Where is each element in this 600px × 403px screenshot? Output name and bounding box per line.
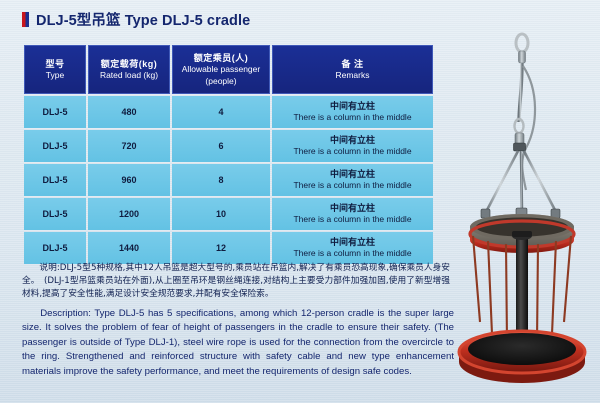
cell-rated-load: 1440: [88, 232, 170, 264]
cell-type: DLJ-5: [24, 198, 86, 230]
description-english: Description: Type DLJ-5 has 5 specificat…: [22, 307, 454, 379]
column-header-type-cn: 型号: [27, 58, 83, 70]
table-row: DLJ-5 1440 12 中间有立柱 There is a column in…: [24, 232, 433, 264]
cell-rated-load: 1200: [88, 198, 170, 230]
cell-remarks-en: There is a column in the middle: [274, 248, 431, 259]
cell-type: DLJ-5: [24, 130, 86, 162]
cell-passengers: 8: [172, 164, 270, 196]
cell-remarks-en: There is a column in the middle: [274, 180, 431, 191]
mid-shackle-icon: [514, 119, 526, 151]
column-header-rated-load-en: Rated load (kg): [91, 70, 167, 81]
cell-type: DLJ-5: [24, 164, 86, 196]
column-header-type: 型号 Type: [24, 45, 86, 94]
product-photo: [446, 22, 600, 400]
column-header-remarks: 备 注 Remarks: [272, 45, 433, 94]
title-marker-icon: [22, 12, 29, 27]
cell-rated-load: 960: [88, 164, 170, 196]
cell-rated-load: 480: [88, 96, 170, 128]
specification-table: 型号 Type 额定载荷(kg) Rated load (kg) 额定乘员(人)…: [22, 43, 435, 266]
column-header-remarks-cn: 备 注: [275, 58, 430, 70]
column-header-passengers-en: Allowable passenger (people): [175, 64, 267, 87]
page-title: DLJ-5型吊篮 Type DLJ-5 cradle: [22, 9, 250, 30]
table-header-row: 型号 Type 额定载荷(kg) Rated load (kg) 额定乘员(人)…: [24, 45, 433, 94]
table-row: DLJ-5 1200 10 中间有立柱 There is a column in…: [24, 198, 433, 230]
cell-passengers: 12: [172, 232, 270, 264]
cell-remarks-en: There is a column in the middle: [274, 214, 431, 225]
cell-remarks-cn: 中间有立柱: [274, 236, 431, 248]
cell-remarks: 中间有立柱 There is a column in the middle: [272, 232, 433, 264]
page-title-text: DLJ-5型吊篮 Type DLJ-5 cradle: [36, 9, 250, 30]
cell-type: DLJ-5: [24, 96, 86, 128]
table-row: DLJ-5 720 6 中间有立柱 There is a column in t…: [24, 130, 433, 162]
cell-remarks-cn: 中间有立柱: [274, 100, 431, 112]
cell-remarks-en: There is a column in the middle: [274, 112, 431, 123]
cell-remarks: 中间有立柱 There is a column in the middle: [272, 96, 433, 128]
cell-remarks-en: There is a column in the middle: [274, 146, 431, 157]
cell-passengers: 4: [172, 96, 270, 128]
cell-remarks: 中间有立柱 There is a column in the middle: [272, 164, 433, 196]
cell-passengers: 10: [172, 198, 270, 230]
column-header-passengers-cn: 额定乘员(人): [175, 52, 267, 64]
column-header-type-en: Type: [27, 70, 83, 81]
cell-remarks: 中间有立柱 There is a column in the middle: [272, 130, 433, 162]
cell-remarks-cn: 中间有立柱: [274, 168, 431, 180]
cell-remarks-cn: 中间有立柱: [274, 134, 431, 146]
table-row: DLJ-5 480 4 中间有立柱 There is a column in t…: [24, 96, 433, 128]
cell-rated-load: 720: [88, 130, 170, 162]
bottom-platform: [459, 331, 585, 383]
column-header-rated-load: 额定载荷(kg) Rated load (kg): [88, 45, 170, 94]
cell-remarks-cn: 中间有立柱: [274, 202, 431, 214]
table-row: DLJ-5 960 8 中间有立柱 There is a column in t…: [24, 164, 433, 196]
cell-remarks: 中间有立柱 There is a column in the middle: [272, 198, 433, 230]
column-header-rated-load-cn: 额定载荷(kg): [91, 58, 167, 70]
description-chinese: 说明:DLJ-5型5种规格,其中12人吊篮是超大型号的,乘员站在吊篮内,解决了有…: [22, 262, 450, 301]
lifting-eye-icon: [516, 34, 528, 63]
cell-type: DLJ-5: [24, 232, 86, 264]
column-header-remarks-en: Remarks: [275, 70, 430, 81]
catalog-page: DLJ-5型吊篮 Type DLJ-5 cradle 型号 Type 额定载荷(…: [0, 0, 600, 403]
cell-passengers: 6: [172, 130, 270, 162]
column-header-passengers: 额定乘员(人) Allowable passenger (people): [172, 45, 270, 94]
